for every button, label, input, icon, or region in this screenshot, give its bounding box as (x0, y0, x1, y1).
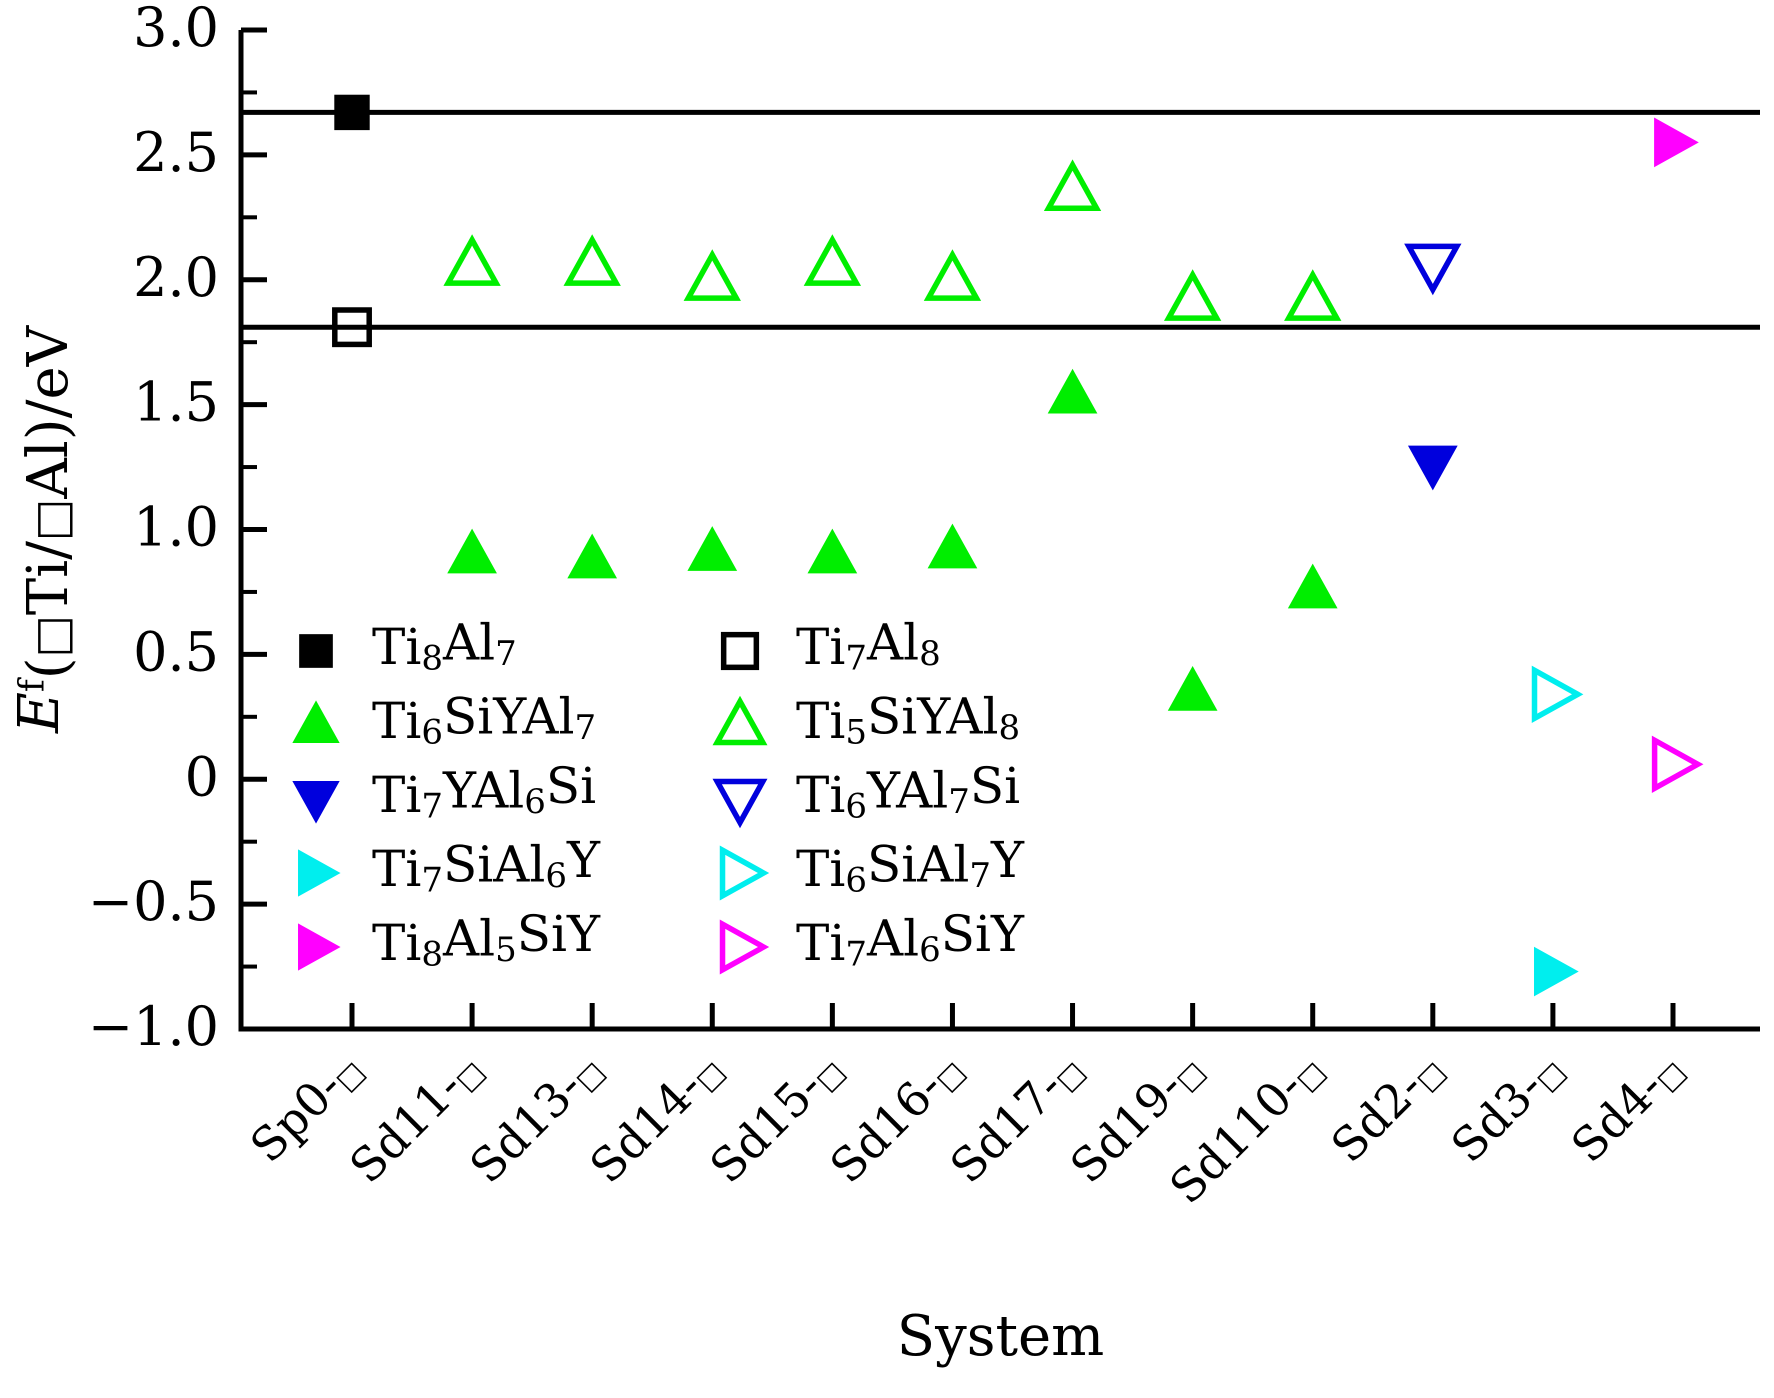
y-tick-label: 1.0 (133, 496, 219, 559)
legend-marker-filled-triangle-down-icon (293, 782, 339, 823)
legend-marker-filled-triangle-up-icon (293, 701, 339, 742)
svg-text:Sd17-□: Sd17-□ (940, 1041, 1093, 1194)
svg-text:Sd15-□: Sd15-□ (699, 1041, 852, 1194)
svg-text:Sd11-□: Sd11-□ (339, 1041, 492, 1194)
legend-marker-filled-triangle-right-icon (299, 850, 340, 896)
data-point-marker (1049, 370, 1097, 413)
x-tick-label: Sd13-□ (459, 1041, 612, 1194)
legend-item-Ti8Al7[interactable]: Ti8Al7 (300, 614, 517, 679)
data-point-marker (1655, 118, 1698, 166)
legend-marker-open-triangle-right-icon (723, 850, 764, 896)
data-point-marker (688, 527, 736, 570)
legend: Ti8Al7Ti7Al8Ti6SiYAl7Ti5SiYAl8Ti7YAl6SiT… (293, 614, 1025, 975)
legend-item-Ti7SiAl6Y[interactable]: Ti7SiAl6Y (299, 831, 601, 900)
legend-label: Ti6SiAl7Y (796, 831, 1025, 900)
data-point-marker (808, 240, 856, 283)
data-point-marker (928, 525, 976, 568)
y-tick-label: −1.0 (88, 995, 219, 1058)
legend-label: Ti5SiYAl8 (796, 688, 1020, 753)
y-tick-label: 2.0 (133, 246, 219, 309)
legend-marker-open-triangle-up-icon (717, 701, 763, 742)
svg-text:Sd4-□: Sd4-□ (1561, 1041, 1693, 1173)
svg-text:Sd2-□: Sd2-□ (1321, 1041, 1453, 1173)
legend-item-Ti6SiYAl7[interactable]: Ti6SiYAl7 (293, 688, 596, 753)
x-tick-label: Sd17-□ (940, 1041, 1093, 1194)
data-point-marker (1169, 667, 1217, 710)
x-axis-title: System (897, 1304, 1104, 1369)
legend-label: Ti8Al7 (372, 614, 517, 679)
legend-label: Ti7Al8 (796, 614, 941, 679)
scatter-plot-svg: 3.02.52.01.51.00.50−0.5−1.0Sp0-□Sd11-□Sd… (0, 0, 1774, 1398)
x-tick-label: Sd4-□ (1561, 1041, 1693, 1173)
y-tick-label: −0.5 (88, 870, 219, 933)
series-Ti7YAl6Si (1409, 446, 1457, 489)
y-tick-label: 0 (185, 745, 219, 808)
y-axis-title: Ef(□Ti/□Al)/eV (7, 324, 81, 734)
legend-label: Ti7SiAl6Y (372, 831, 601, 900)
x-tick-labels: Sp0-□Sd11-□Sd13-□Sd14-□Sd15-□Sd16-□Sd17-… (240, 1041, 1693, 1214)
series-Ti7Al6SiY (1655, 740, 1698, 788)
series-Ti6YAl7Si (1409, 246, 1457, 289)
chart-figure: 3.02.52.01.51.00.50−0.5−1.0Sp0-□Sd11-□Sd… (0, 0, 1774, 1398)
legend-label: Ti7YAl6Si (372, 757, 596, 826)
data-point-marker (1049, 165, 1097, 208)
y-tick-label: 2.5 (133, 121, 219, 184)
legend-item-Ti6SiAl7Y[interactable]: Ti6SiAl7Y (723, 831, 1025, 900)
y-tick-label: 0.5 (133, 620, 219, 683)
data-point-marker (335, 95, 369, 129)
legend-label: Ti7Al6SiY (796, 905, 1025, 974)
series-Ti6SiAl7Y (1535, 670, 1578, 718)
data-point-marker (1535, 948, 1578, 996)
series-Ti8Al7 (335, 95, 369, 129)
svg-text:Sd13-□: Sd13-□ (459, 1041, 612, 1194)
x-tick-label: Sd3-□ (1441, 1041, 1573, 1173)
data-point-marker (1409, 446, 1457, 489)
x-axis-ticks (352, 1003, 1673, 1029)
legend-item-Ti6YAl7Si[interactable]: Ti6YAl7Si (717, 757, 1020, 826)
x-tick-label: Sd16-□ (819, 1041, 972, 1194)
series-Ti5SiYAl8 (448, 165, 1337, 318)
legend-item-Ti7YAl6Si[interactable]: Ti7YAl6Si (293, 757, 596, 826)
legend-label: Ti6SiYAl7 (372, 688, 596, 753)
data-point-marker (1289, 565, 1337, 608)
data-point-marker (928, 255, 976, 298)
data-point-marker (808, 530, 856, 573)
data-point-marker (1169, 275, 1217, 318)
reference-lines (241, 112, 1760, 327)
data-point-marker (1289, 275, 1337, 318)
data-point-marker (1655, 740, 1698, 788)
legend-marker-open-triangle-right-icon (723, 924, 764, 970)
svg-text:Sd16-□: Sd16-□ (819, 1041, 972, 1194)
legend-item-Ti7Al6SiY[interactable]: Ti7Al6SiY (723, 905, 1025, 974)
y-tick-label: 3.0 (133, 0, 219, 59)
legend-label: Ti6YAl7Si (796, 757, 1020, 826)
svg-text:Ef(□Ti/□Al)/eV: Ef(□Ti/□Al)/eV (7, 324, 81, 734)
data-point-marker (568, 535, 616, 578)
legend-marker-filled-square-icon (300, 635, 333, 668)
data-point-marker (448, 530, 496, 573)
series-Ti8Al5SiY (1655, 118, 1698, 166)
data-point-marker (1409, 246, 1457, 289)
x-tick-label: Sd11-□ (339, 1041, 492, 1194)
data-point-marker (1535, 670, 1578, 718)
svg-text:Sd3-□: Sd3-□ (1441, 1041, 1573, 1173)
legend-item-Ti7Al8[interactable]: Ti7Al8 (724, 614, 941, 679)
series-Ti7SiAl6Y (1535, 948, 1578, 996)
legend-label: Ti8Al5SiY (372, 905, 601, 974)
legend-item-Ti5SiYAl8[interactable]: Ti5SiYAl8 (717, 688, 1020, 753)
x-tick-label: Sd2-□ (1321, 1041, 1453, 1173)
x-tick-label: Sd15-□ (699, 1041, 852, 1194)
data-point-marker (688, 255, 736, 298)
legend-item-Ti8Al5SiY[interactable]: Ti8Al5SiY (299, 905, 601, 974)
svg-text:Sd14-□: Sd14-□ (579, 1041, 732, 1194)
legend-marker-filled-triangle-right-icon (299, 924, 340, 970)
y-tick-label: 1.5 (133, 371, 219, 434)
data-point-marker (568, 240, 616, 283)
x-tick-label: Sd14-□ (579, 1041, 732, 1194)
data-point-marker (448, 240, 496, 283)
legend-marker-open-square-icon (724, 635, 757, 668)
legend-marker-open-triangle-down-icon (717, 782, 763, 823)
